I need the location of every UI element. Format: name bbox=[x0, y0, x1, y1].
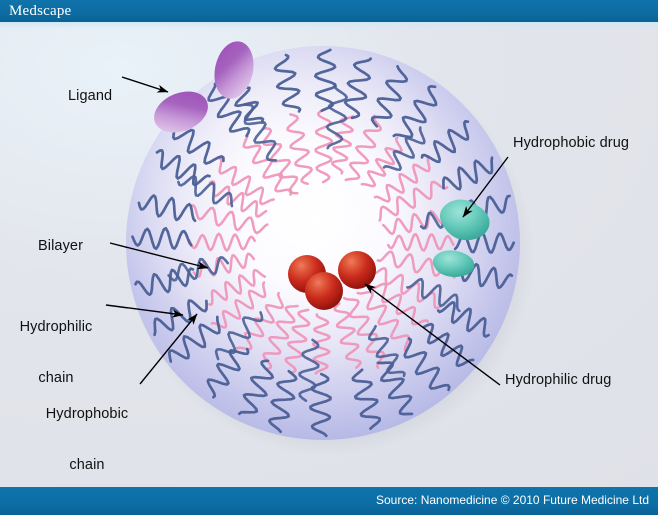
medscape-footer-bar: Source: Nanomedicine © 2010 Future Medic… bbox=[0, 487, 658, 515]
hydrophilic-drug-sphere bbox=[305, 272, 343, 310]
hydrophilic-drug-sphere bbox=[338, 251, 376, 289]
medscape-header-bar: Medscape bbox=[0, 0, 658, 22]
source-attribution: Source: Nanomedicine © 2010 Future Medic… bbox=[376, 493, 649, 508]
label-hydrophilic-chain-line1: Hydrophilic bbox=[6, 319, 106, 336]
illustration-canvas: Ligand Bilayer Hydrophilic chain Hydroph… bbox=[0, 22, 658, 487]
medscape-figure-page: Medscape bbox=[0, 0, 658, 515]
medscape-logo[interactable]: Medscape bbox=[9, 2, 71, 20]
label-hydrophilic-drug: Hydrophilic drug bbox=[505, 372, 611, 389]
label-hydrophobic-chain: Hydrophobic chain bbox=[32, 372, 142, 487]
label-hydrophobic-drug: Hydrophobic drug bbox=[513, 135, 629, 152]
leader-line-ligand bbox=[122, 77, 168, 92]
label-hydrophobic-chain-line1: Hydrophobic bbox=[32, 406, 142, 423]
label-bilayer: Bilayer bbox=[38, 238, 83, 255]
label-hydrophobic-chain-line2: chain bbox=[32, 457, 142, 474]
label-ligand: Ligand bbox=[68, 88, 112, 105]
